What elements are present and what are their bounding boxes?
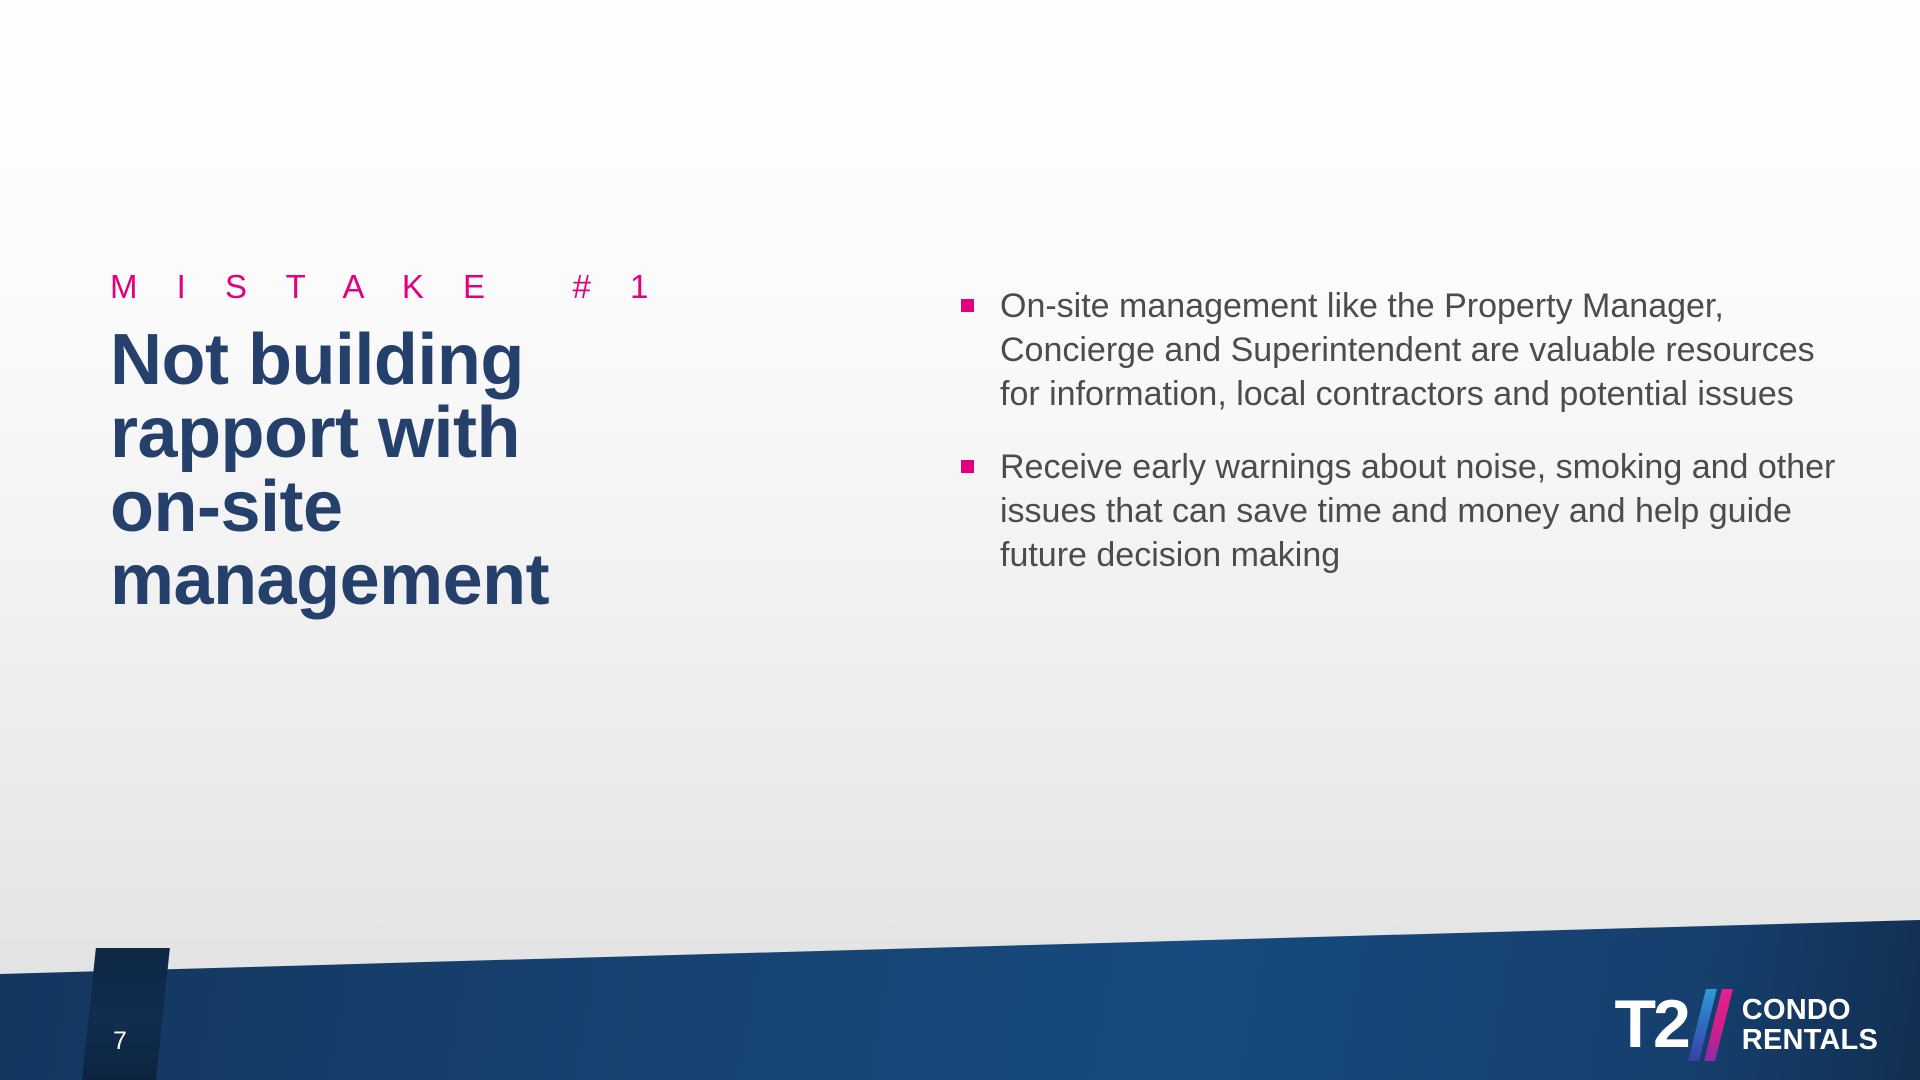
- page-number: 7: [113, 1027, 127, 1056]
- title-line-3: on-site: [110, 471, 750, 544]
- title-block: M I S T A K E # 1 Not building rapport w…: [110, 268, 750, 618]
- body-bullet-list: On-site management like the Property Man…: [955, 284, 1860, 577]
- page-title: Not building rapport with on-site manage…: [110, 324, 750, 618]
- logo-slashes-icon: [1697, 989, 1729, 1061]
- list-item-text: Receive early warnings about noise, smok…: [1000, 448, 1835, 574]
- title-line-1: Not building: [110, 324, 750, 397]
- page-number-tab: [82, 948, 170, 1080]
- list-item-text: On-site management like the Property Man…: [1000, 287, 1815, 413]
- square-bullet-icon: [961, 299, 974, 312]
- logo-wordmark: CONDO RENTALS: [1742, 995, 1878, 1056]
- logo-word-rentals: RENTALS: [1742, 1025, 1878, 1055]
- list-item: Receive early warnings about noise, smok…: [955, 445, 1860, 578]
- eyebrow-label: M I S T A K E # 1: [110, 268, 750, 306]
- title-line-4: management: [110, 544, 750, 617]
- logo-mark-t2: T2: [1614, 990, 1687, 1058]
- square-bullet-icon: [961, 460, 974, 473]
- logo-word-condo: CONDO: [1742, 995, 1878, 1025]
- slide: M I S T A K E # 1 Not building rapport w…: [0, 0, 1920, 1080]
- list-item: On-site management like the Property Man…: [955, 284, 1860, 417]
- title-line-2: rapport with: [110, 397, 750, 470]
- brand-logo: T2 CONDO RENTALS: [1614, 987, 1878, 1063]
